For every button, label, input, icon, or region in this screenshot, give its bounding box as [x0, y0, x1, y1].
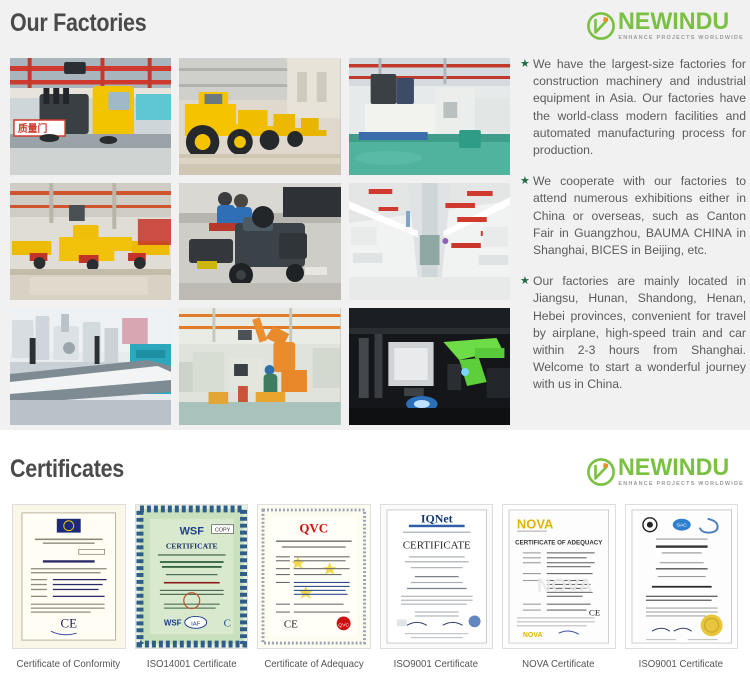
certificate-caption: ISO9001 Certificate: [394, 658, 478, 670]
brand-logo: NEWINDU Enhance Projects Worldwide: [586, 456, 744, 487]
section-divider: [0, 430, 750, 446]
brand-name: NEWINDU: [618, 456, 740, 480]
cert-iso9001-cn-thumb[interactable]: SAC: [625, 504, 739, 649]
svg-text:C: C: [223, 617, 230, 629]
bullet-text: We have the largest-size factories for c…: [533, 56, 746, 159]
list-item: ★ We cooperate with our factories to att…: [520, 173, 746, 259]
svg-text:WSF: WSF: [163, 618, 181, 627]
svg-text:CE: CE: [284, 618, 298, 630]
newindu-mark-icon: [586, 11, 616, 41]
list-item: ★ Our factories are mainly located in Ji…: [520, 273, 746, 393]
newindu-mark-icon: [586, 457, 616, 487]
cert-adequacy-thumb[interactable]: QVC: [257, 504, 371, 649]
svg-text:CERTIFICATE OF ADEQUACY: CERTIFICATE OF ADEQUACY: [515, 539, 602, 546]
factory-photo-welding-arc-station: [349, 308, 510, 425]
cert-conformity-thumb[interactable]: CE: [12, 504, 126, 649]
svg-text:WSF: WSF: [179, 526, 204, 538]
star-icon: ★: [520, 173, 533, 259]
brand-tagline: Enhance Projects Worldwide: [618, 36, 744, 41]
factory-photo-truck-cab-assembly-line: 质量门: [10, 58, 171, 175]
svg-text:CERTIFICATE: CERTIFICATE: [402, 539, 470, 551]
certificate-caption: ISO9001 Certificate: [639, 658, 723, 670]
factories-section: Our Factories NEWINDU Enhance Projects W…: [0, 0, 750, 430]
svg-text:质量门: 质量门: [18, 122, 48, 135]
certificate-caption: Certificate of Adequacy: [264, 658, 363, 670]
svg-text:QVC: QVC: [338, 622, 349, 628]
bullet-text: We cooperate with our factories to atten…: [533, 173, 746, 259]
factory-photo-grader-assembly-line: [10, 183, 171, 300]
factory-photo-overhead-conveyor-line: [349, 183, 510, 300]
certificates-section: Certificates NEWINDU Enhance Projects Wo…: [0, 446, 750, 690]
svg-text:CERTIFICATE: CERTIFICATE: [165, 541, 217, 550]
cert-iso14001-thumb[interactable]: WSF COPY CERTIFICATE: [135, 504, 249, 649]
certificate-caption: NOVA Certificate: [523, 658, 595, 670]
svg-text:NOVA: NOVA: [523, 632, 543, 639]
star-icon: ★: [520, 56, 533, 159]
svg-text:SAC: SAC: [676, 523, 687, 529]
certificates-body: CE Certificate of Conformity: [0, 496, 750, 690]
certificate-item: WSF COPY CERTIFICATE: [135, 504, 249, 670]
factories-header: Our Factories NEWINDU Enhance Projects W…: [0, 0, 750, 50]
brand-tagline: Enhance Projects Worldwide: [618, 482, 744, 487]
certificate-item: SAC: [625, 504, 739, 670]
certificate-row: CE Certificate of Conformity: [12, 504, 738, 670]
factories-body: 质量门: [0, 50, 750, 430]
brand-name: NEWINDU: [618, 10, 740, 34]
factory-photo-engine-assembly-workers: [179, 183, 340, 300]
svg-text:NOVA: NOVA: [517, 517, 553, 532]
certificates-header: Certificates NEWINDU Enhance Projects Wo…: [0, 446, 750, 496]
cert-iso9001-iqnet-thumb[interactable]: IQNet CERTIFICATE: [380, 504, 494, 649]
cert-nova-thumb[interactable]: NOVA CERTIFICATE OF ADEQUACY: [502, 504, 616, 649]
factory-bullet-list: ★ We have the largest-size factories for…: [520, 56, 746, 408]
svg-text:IAF: IAF: [191, 621, 201, 627]
certificate-item: NOVA CERTIFICATE OF ADEQUACY: [502, 504, 616, 670]
svg-text:CE: CE: [60, 616, 77, 630]
svg-text:COPY: COPY: [214, 528, 230, 534]
certificates-title: Certificates: [10, 455, 124, 484]
svg-text:NOVA: NOVA: [537, 575, 593, 597]
factory-photo-precision-parts-workshop: [10, 308, 171, 425]
certificate-item: CE Certificate of Conformity: [12, 504, 126, 670]
certificate-item: QVC: [257, 504, 371, 670]
certificate-item: IQNet CERTIFICATE: [380, 504, 494, 670]
product-detail-page: Our Factories NEWINDU Enhance Projects W…: [0, 0, 750, 690]
factory-photo-wheel-loader-production-line: [179, 58, 340, 175]
factory-photo-robotic-welding-cell: [179, 308, 340, 425]
svg-text:QVC: QVC: [299, 522, 328, 536]
bullet-text: Our factories are mainly located in Jian…: [533, 273, 746, 393]
star-icon: ★: [520, 273, 533, 393]
svg-text:CE: CE: [589, 607, 600, 617]
list-item: ★ We have the largest-size factories for…: [520, 56, 746, 159]
factory-photo-grid: 质量门: [10, 58, 510, 425]
brand-logo: NEWINDU Enhance Projects Worldwide: [586, 10, 744, 41]
factory-photo-cnc-machine-shop: [349, 58, 510, 175]
certificate-caption: ISO14001 Certificate: [146, 658, 236, 670]
svg-text:IQNet: IQNet: [420, 512, 452, 526]
certificate-caption: Certificate of Conformity: [17, 658, 121, 670]
page-title: Our Factories: [10, 9, 146, 38]
